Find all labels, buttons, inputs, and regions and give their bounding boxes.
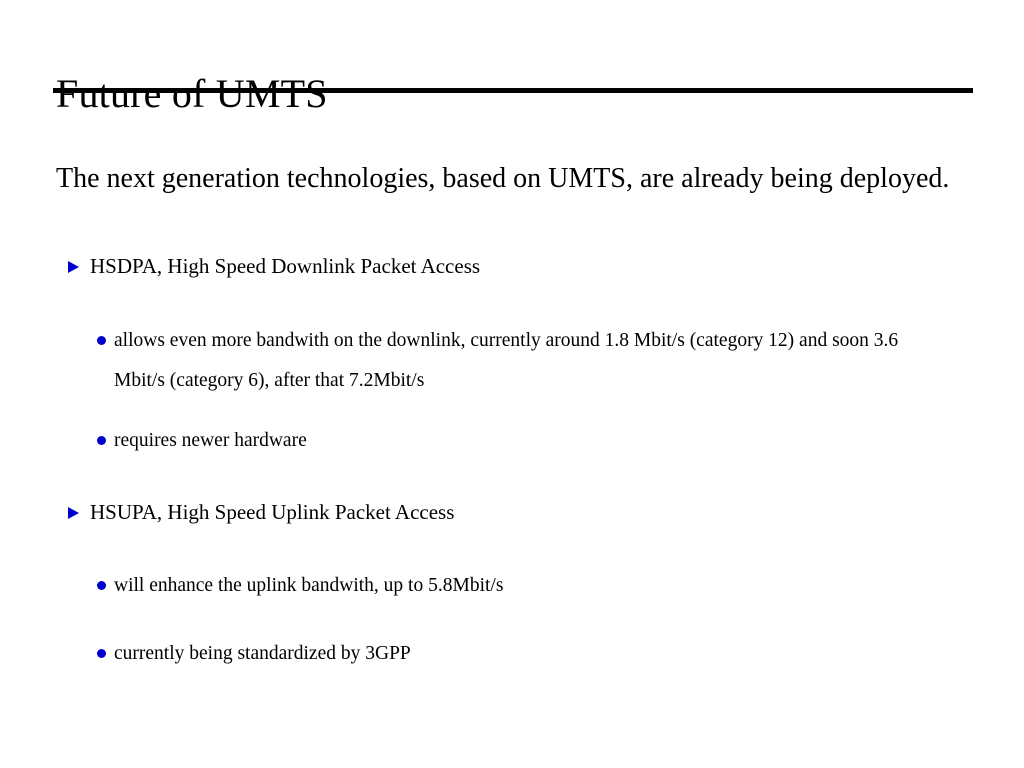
triangle-right-icon (68, 261, 79, 273)
round-dot-icon (97, 649, 106, 658)
list-item-label: requires newer hardware (114, 421, 940, 461)
list-item: HSUPA, High Speed Uplink Packet Access (0, 498, 1024, 526)
presentation-slide: Future of UMTS The next generation techn… (0, 0, 1024, 768)
round-dot-icon (97, 436, 106, 445)
list-item: allows even more bandwith on the downlin… (0, 321, 940, 401)
list-item: will enhance the uplink bandwith, up to … (0, 566, 940, 606)
round-dot-icon (97, 581, 106, 590)
list-item-label: HSUPA, High Speed Uplink Packet Access (90, 500, 454, 524)
bullet-list: HSDPA, High Speed Downlink Packet Access… (0, 252, 1024, 702)
list-item-label: currently being standardized by 3GPP (114, 634, 940, 674)
list-item: requires newer hardware (0, 421, 940, 461)
triangle-right-icon (68, 507, 79, 519)
list-item: HSDPA, High Speed Downlink Packet Access (0, 252, 1024, 280)
title-underline-rule (53, 88, 973, 93)
list-item: currently being standardized by 3GPP (0, 634, 940, 674)
page-title: Future of UMTS (56, 71, 328, 117)
list-item-label: HSDPA, High Speed Downlink Packet Access (90, 254, 480, 278)
round-dot-icon (97, 336, 106, 345)
lead-paragraph: The next generation technologies, based … (56, 156, 956, 202)
list-item-label: allows even more bandwith on the downlin… (114, 321, 940, 401)
list-item-label: will enhance the uplink bandwith, up to … (114, 566, 940, 606)
